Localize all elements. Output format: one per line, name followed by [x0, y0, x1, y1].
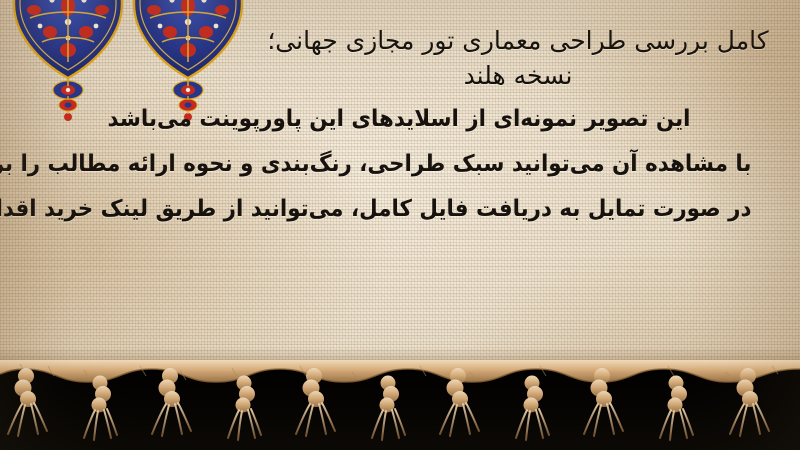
body-line-2: با مشاهده آن می‌توانید سبک طراحی، رنگ‌بن…	[47, 153, 752, 176]
tassel-fringe-border	[0, 360, 800, 450]
body-line-3: در صورت تمایل به دریافت فایل کامل، می‌تو…	[47, 198, 752, 221]
tassel-fringe-icon	[0, 360, 800, 450]
slide-body: این تصویر نمونه‌ای از اسلایدهای این پاور…	[20, 108, 778, 221]
slide-title: کامل بررسی طراحی معماری تور مجازی جهانی؛…	[0, 23, 786, 94]
body-line-1: این تصویر نمونه‌ای از اسلایدهای این پاور…	[47, 108, 752, 131]
presentation-slide: کامل بررسی طراحی معماری تور مجازی جهانی؛…	[0, 0, 800, 450]
